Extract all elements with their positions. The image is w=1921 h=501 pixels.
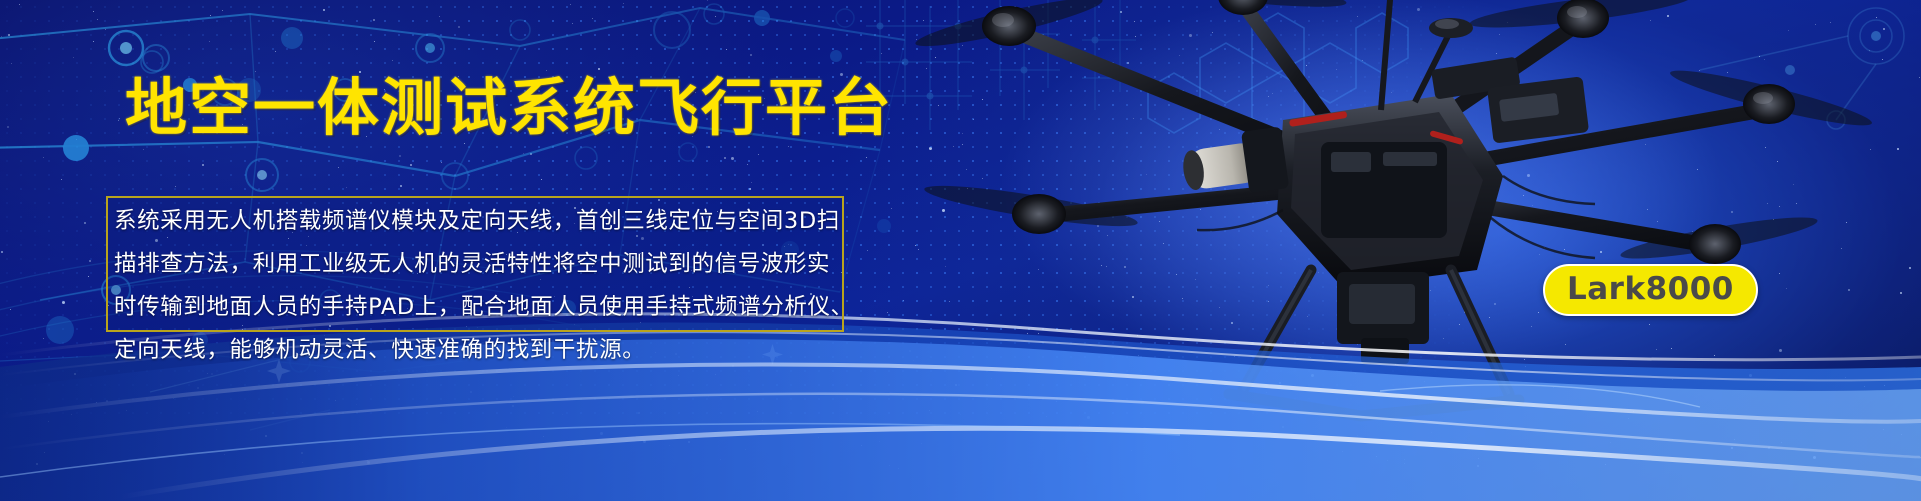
description-line: 时传输到地面人员的手持PAD上，配合地面人员使用手持式频谱分析仪、 <box>114 286 850 329</box>
page-title: 地空一体测试系统飞行平台 <box>125 77 893 139</box>
description-text: 系统采用无人机搭载频谱仪模块及定向天线，首创三线定位与空间3D扫 描排查方法，利… <box>114 200 850 372</box>
model-badge: Lark8000 <box>1543 264 1758 316</box>
product-banner: 地空一体测试系统飞行平台 系统采用无人机搭载频谱仪模块及定向天线，首创三线定位与… <box>0 0 1921 501</box>
description-line: 系统采用无人机搭载频谱仪模块及定向天线，首创三线定位与空间3D扫 <box>114 200 850 243</box>
description-line: 定向天线，能够机动灵活、快速准确的找到干扰源。 <box>114 329 850 372</box>
description-line: 描排查方法，利用工业级无人机的灵活特性将空中测试到的信号波形实 <box>114 243 850 286</box>
